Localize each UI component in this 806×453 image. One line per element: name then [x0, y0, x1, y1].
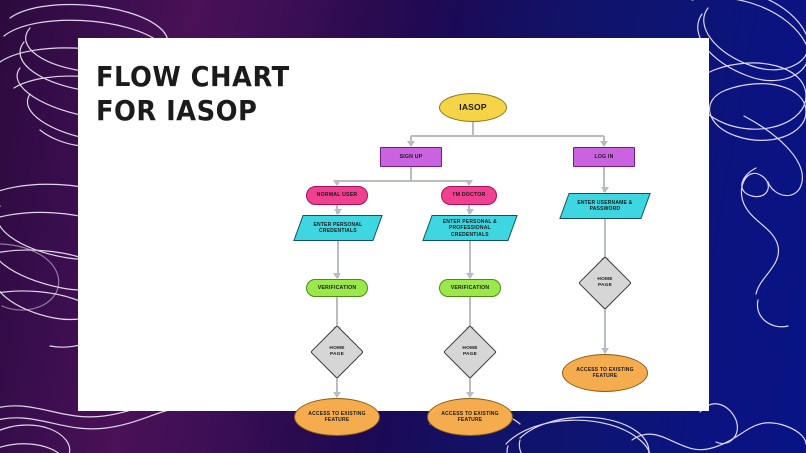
flow-node-signup: Sign Up: [380, 147, 442, 167]
flow-node-label: Access to Existing Feature: [428, 411, 512, 424]
flow-node-login: Log In: [573, 147, 635, 167]
flow-node-label: Enter Personal & Professional Credential…: [428, 219, 512, 238]
flow-node-label: I'm Doctor: [450, 192, 489, 199]
flow-node-label: Normal User: [314, 192, 361, 199]
flow-node-cred1: Enter Personal Credentials: [293, 215, 382, 241]
flow-node-cred2: Enter Personal & Professional Credential…: [422, 215, 517, 241]
flow-node-label: Enter Username & Password: [565, 200, 645, 213]
flow-node-verify2: Verification: [439, 279, 501, 297]
flow-node-access3: Access to Existing Feature: [562, 354, 648, 392]
flow-node-cred3: Enter Username & Password: [559, 193, 650, 219]
flow-node-label: Access to Existing Feature: [563, 367, 647, 380]
connector-line: [411, 135, 473, 137]
slide-canvas: Flow Chart for IASOP IASOPSign UpLog InN…: [0, 0, 806, 453]
flow-node-imdoctor: I'm Doctor: [441, 186, 497, 205]
flow-node-home2: Home Page: [443, 325, 497, 379]
flow-node-label: Access to Existing Feature: [295, 411, 379, 424]
connector-line: [604, 302, 606, 353]
flow-node-access2: Access to Existing Feature: [427, 398, 513, 436]
flow-node-label: Home Page: [452, 346, 488, 358]
connector-line: [473, 135, 604, 137]
flow-node-label: Home Page: [587, 277, 623, 289]
flow-node-label: Enter Personal Credentials: [299, 222, 377, 235]
flow-node-home1: Home Page: [310, 325, 364, 379]
flow-chart: IASOPSign UpLog InNormal UserI'm DoctorE…: [78, 38, 709, 411]
flow-node-normaluser: Normal User: [306, 186, 368, 205]
flow-node-verify1: Verification: [306, 279, 368, 297]
flow-node-label: Home Page: [319, 346, 355, 358]
slide-card: Flow Chart for IASOP IASOPSign UpLog InN…: [78, 38, 709, 411]
flow-node-start: IASOP: [439, 93, 507, 122]
flow-node-label: IASOP: [456, 102, 489, 113]
flow-node-access1: Access to Existing Feature: [294, 398, 380, 436]
flow-node-label: Sign Up: [397, 154, 426, 161]
flow-node-label: Log In: [591, 154, 616, 161]
flow-node-home3: Home Page: [578, 256, 632, 310]
flow-node-label: Verification: [315, 285, 360, 292]
connector-line: [337, 180, 411, 182]
connector-line: [472, 122, 474, 136]
connector-line: [410, 167, 412, 181]
connector-line: [411, 180, 469, 182]
flow-node-label: Verification: [448, 285, 493, 292]
